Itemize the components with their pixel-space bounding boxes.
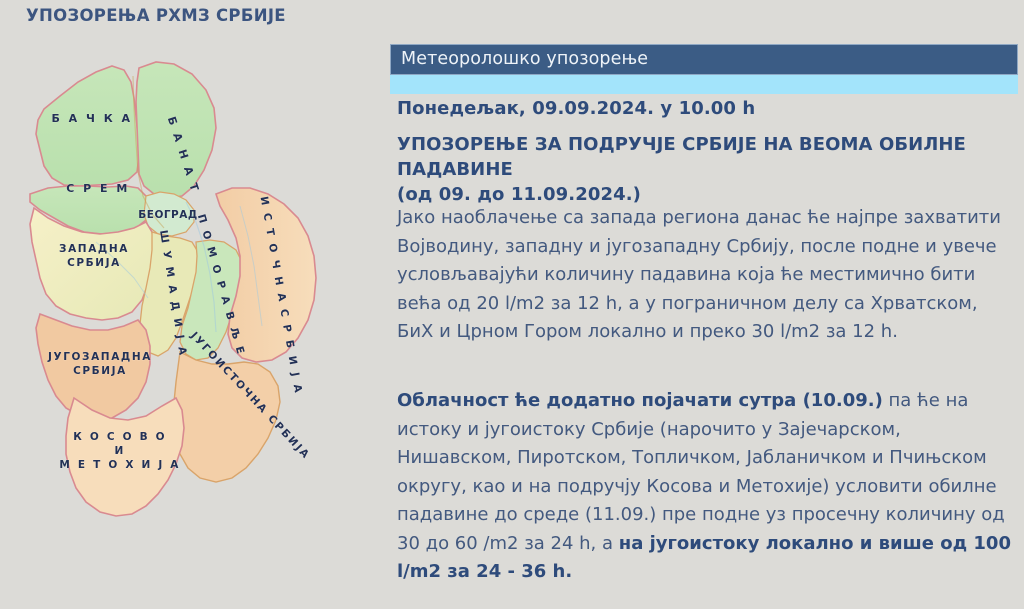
warning-paragraph-2-middle: па ће на истоку и југоистоку Србије (нар… <box>397 390 1005 554</box>
warning-content: Метеоролошко упозорење Понедељак, 09.09.… <box>390 44 1024 609</box>
warning-page: УПОЗОРЕЊА РХМЗ СРБИЈЕ <box>0 0 1024 609</box>
accent-strip <box>390 75 1018 94</box>
serbia-regions-map: Б А Ч К А Б А Н А Т С Р Е М БЕОГРАД ЗАПА… <box>0 46 380 606</box>
map-label-srem: С Р Е М <box>66 182 130 195</box>
warning-title: УПОЗОРЕЊЕ ЗА ПОДРУЧЈЕ СРБИЈЕ НА ВЕОМА ОБ… <box>397 132 997 207</box>
map-label-beograd: БЕОГРАД <box>138 209 197 221</box>
warning-paragraph-2-lead: Облачност ће додатно појачати сутра (10.… <box>397 390 883 411</box>
warning-paragraph-1: Јако наоблачење са запада региона данас … <box>397 204 1017 347</box>
region-backa <box>36 66 139 186</box>
warning-header-label: Метеоролошко упозорење <box>401 49 648 69</box>
page-title: УПОЗОРЕЊА РХМЗ СРБИЈЕ <box>26 6 286 25</box>
warning-paragraph-1-text: Јако наоблачење са запада региона данас … <box>397 207 1001 342</box>
map-label-jugozapadna-srbija: ЈУГОЗАПАДНА <box>47 351 152 363</box>
map-label-kosovo-i-metohija-line3: М Е Т О Х И Ј А <box>59 459 180 471</box>
map-label-backa: Б А Ч К А <box>51 112 132 125</box>
map-label-kosovo-i-metohija-line2: И <box>115 445 126 457</box>
region-kosovo-i-metohija <box>66 398 184 516</box>
warning-title-line-1: УПОЗОРЕЊЕ ЗА ПОДРУЧЈЕ СРБИЈЕ НА ВЕОМА <box>397 134 873 155</box>
warning-date-line: Понедељак, 09.09.2024. у 10.00 h <box>397 98 755 119</box>
warning-paragraph-2: Облачност ће додатно појачати сутра (10.… <box>397 387 1017 587</box>
serbia-map-panel: Б А Ч К А Б А Н А Т С Р Е М БЕОГРАД ЗАПА… <box>0 46 380 609</box>
map-label-zapadna-srbija-line2: СРБИЈА <box>67 257 121 269</box>
map-label-jugozapadna-srbija-line2: СРБИЈА <box>73 365 127 377</box>
warning-header-bar: Метеоролошко упозорење <box>390 44 1018 75</box>
map-label-kosovo-i-metohija: К О С О В О <box>73 431 167 443</box>
map-label-zapadna-srbija: ЗАПАДНА <box>59 243 129 255</box>
